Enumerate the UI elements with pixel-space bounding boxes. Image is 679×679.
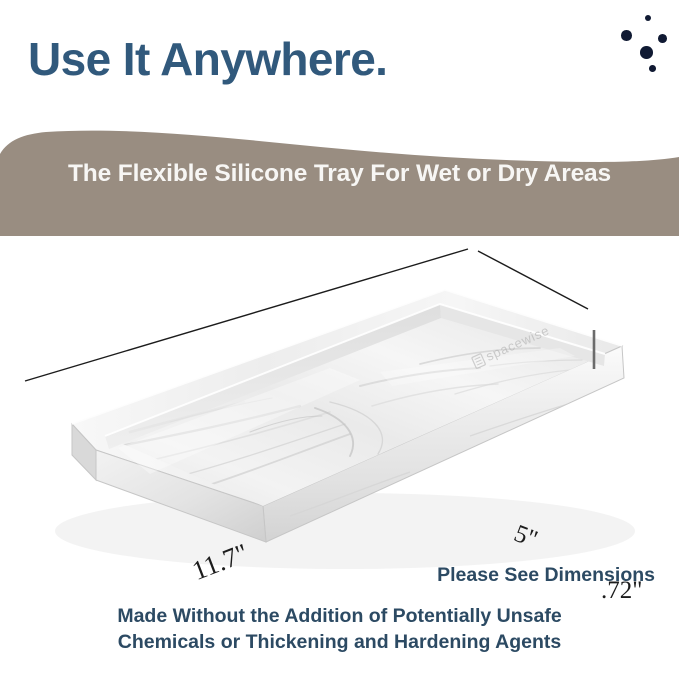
decorative-dot xyxy=(649,65,656,72)
claim-line-1: Made Without the Addition of Potentially… xyxy=(0,604,679,630)
product-infographic: Use It Anywhere. The Flexible Silicone T… xyxy=(0,0,679,679)
page-title: Use It Anywhere. xyxy=(28,35,387,83)
width-dimension-line xyxy=(478,251,588,309)
header-section: Use It Anywhere. The Flexible Silicone T… xyxy=(0,0,679,236)
dot-cluster-decoration xyxy=(614,8,676,72)
decorative-dot xyxy=(640,46,653,59)
decorative-dot xyxy=(645,15,651,21)
subtitle: The Flexible Silicone Tray For Wet or Dr… xyxy=(0,160,679,188)
dimensions-note: Please See Dimensions xyxy=(0,564,679,587)
product-claim: Made Without the Addition of Potentially… xyxy=(0,604,679,655)
decorative-dot xyxy=(658,34,667,43)
decorative-dot xyxy=(621,30,632,41)
claim-line-2: Chemicals or Thickening and Hardening Ag… xyxy=(0,630,679,656)
